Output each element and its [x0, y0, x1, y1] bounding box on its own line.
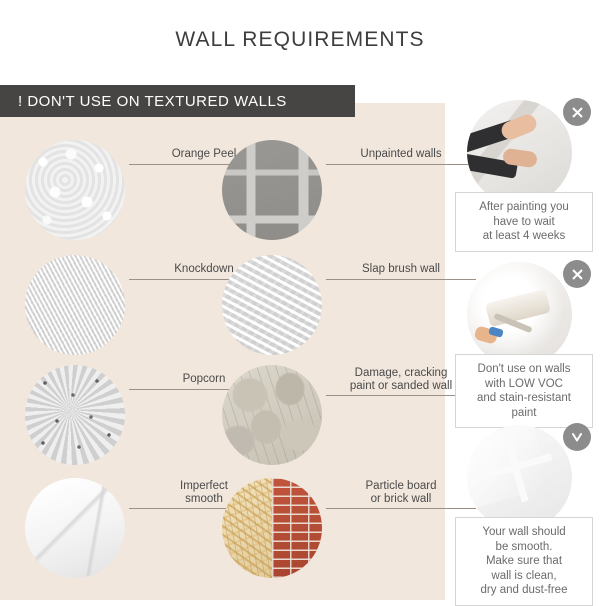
orange-peel-texture-swatch	[25, 140, 125, 240]
hand-shape	[499, 112, 539, 142]
label-underline	[326, 508, 476, 509]
cross-icon	[563, 260, 591, 288]
info-card-caption-3: Your wall should be smooth. Make sure th…	[455, 517, 593, 606]
brick-half	[272, 478, 322, 578]
popcorn-texture-swatch	[25, 365, 125, 465]
unpainted-drywall-texture-swatch	[222, 140, 322, 240]
cross-icon	[563, 98, 591, 126]
info-card-wait-4-weeks: After painting you have to wait at least…	[455, 100, 595, 250]
page-title: WALL REQUIREMENTS	[0, 28, 600, 52]
damaged-wall-texture-swatch	[222, 365, 322, 465]
hands-on-wall-photo	[467, 100, 572, 205]
texture-label-slap-brush-wall: Slap brush wall	[326, 263, 476, 280]
texture-item-unpainted-walls: Unpainted walls	[222, 140, 482, 240]
infographic-page: WALL REQUIREMENTS ! DON'T USE ON TEXTURE…	[0, 0, 600, 600]
info-card-smooth-clean-wall: Your wall should be smooth. Make sure th…	[455, 425, 595, 600]
texture-label-unpainted-walls: Unpainted walls	[326, 148, 476, 165]
smooth-wall-window-light-photo	[467, 425, 572, 530]
particle-board-half	[222, 478, 272, 578]
texture-item-slap-brush-wall: Slap brush wall	[222, 255, 482, 355]
info-card-caption-1: After painting you have to wait at least…	[455, 192, 593, 252]
slap-brush-texture-swatch	[222, 255, 322, 355]
knockdown-texture-swatch	[25, 255, 125, 355]
texture-label-particle-board-brick: Particle board or brick wall	[326, 480, 476, 509]
label-underline	[326, 395, 476, 396]
warning-banner: ! DON'T USE ON TEXTURED WALLS	[0, 85, 355, 117]
label-underline	[326, 164, 476, 165]
check-icon	[563, 423, 591, 451]
texture-item-particle-board-brick: Particle board or brick wall	[222, 478, 482, 578]
label-underline	[326, 279, 476, 280]
imperfect-smooth-texture-swatch	[25, 478, 125, 578]
texture-item-damaged-wall: Damage, cracking paint or sanded wall	[222, 365, 482, 465]
texture-label-damaged-wall: Damage, cracking paint or sanded wall	[326, 367, 476, 396]
warning-banner-text: ! DON'T USE ON TEXTURED WALLS	[0, 93, 287, 110]
info-card-caption-2: Don't use on walls with LOW VOC and stai…	[455, 354, 593, 428]
info-card-low-voc-paint: Don't use on walls with LOW VOC and stai…	[455, 262, 595, 422]
particle-board-brick-texture-swatch	[222, 478, 322, 578]
paint-roller-photo	[467, 262, 572, 367]
